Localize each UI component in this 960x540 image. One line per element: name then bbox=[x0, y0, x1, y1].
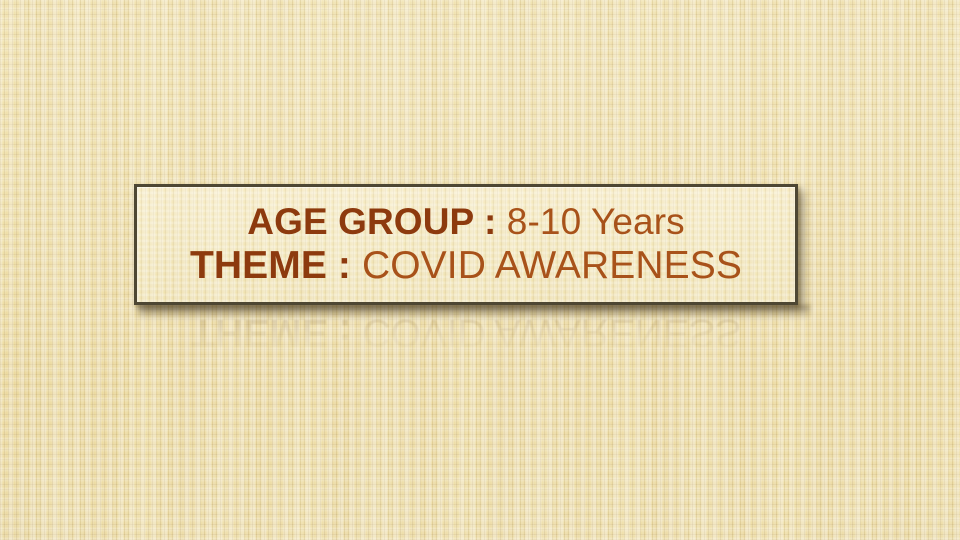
age-group-line: AGE GROUP : 8-10 Years bbox=[247, 203, 684, 241]
age-group-value: 8-10 Years bbox=[496, 201, 684, 242]
theme-value: COVID AWARENESS bbox=[351, 244, 742, 287]
age-group-label: AGE GROUP : bbox=[247, 201, 496, 242]
theme-line: THEME : COVID AWARENESS bbox=[190, 246, 742, 286]
slide-canvas: AGE GROUP : 8-10 Years THEME : COVID AWA… bbox=[0, 0, 960, 540]
theme-label: THEME : bbox=[190, 244, 351, 287]
title-text-box[interactable]: AGE GROUP : 8-10 Years THEME : COVID AWA… bbox=[134, 184, 798, 305]
